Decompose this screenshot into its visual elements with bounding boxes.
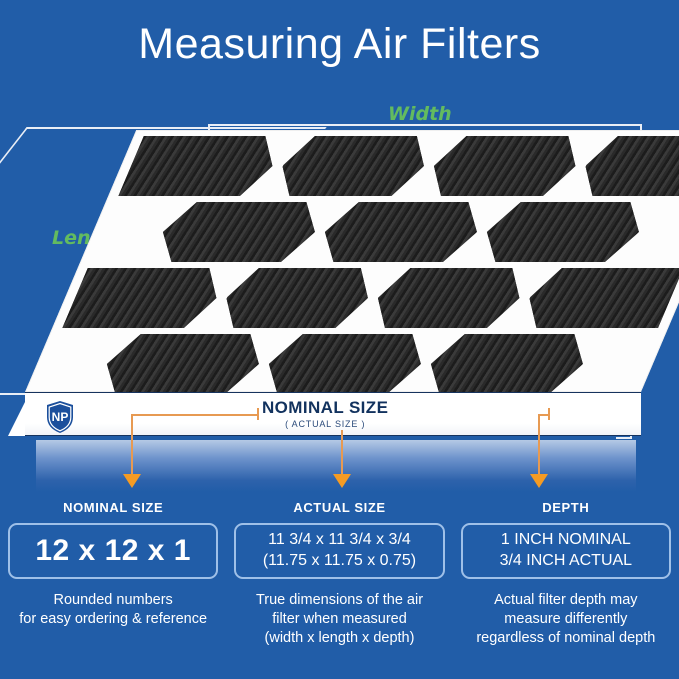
depth-actual-value: 3/4 INCH ACTUAL — [500, 551, 632, 572]
pleat-cell — [94, 334, 271, 392]
leader-tick-depth — [548, 408, 550, 420]
caption-line: regardless of nominal depth — [461, 629, 671, 648]
infographic-canvas: Measuring Air Filters Width Length Depth — [0, 0, 679, 679]
pleat-cell — [118, 136, 285, 196]
pleat-cell — [365, 268, 532, 328]
leader-arrow-actual — [333, 474, 351, 488]
pleat-cell — [573, 136, 679, 196]
air-filter-illustration — [0, 130, 679, 440]
column-caption: True dimensions of the air filter when m… — [234, 591, 444, 648]
np-shield-logo: NP — [45, 400, 75, 434]
band-actual-subtitle: ( ACTUAL SIZE ) — [262, 419, 388, 429]
leader-tick-nominal-right — [257, 408, 259, 420]
nominal-size-value: 12 x 12 x 1 — [35, 534, 191, 568]
summary-columns: NOMINAL SIZE 12 x 12 x 1 Rounded numbers… — [0, 500, 679, 679]
page-title: Measuring Air Filters — [0, 22, 679, 67]
band-nominal-size-caption: NOMINAL SIZE ( ACTUAL SIZE ) — [262, 399, 388, 429]
caption-line: for easy ordering & reference — [8, 610, 218, 629]
pleat-cell — [62, 268, 229, 328]
leader-arrow-depth — [530, 474, 548, 488]
pleat-cell — [270, 136, 437, 196]
caption-line: (width x length x depth) — [234, 629, 444, 648]
leader-line-nominal-horizontal — [131, 414, 259, 416]
leader-line-depth-vertical — [538, 414, 540, 476]
pleat-cell — [421, 136, 588, 196]
depth-nominal-value: 1 INCH NOMINAL — [501, 530, 631, 551]
column-actual-size: ACTUAL SIZE 11 3/4 x 11 3/4 x 3/4 (11.75… — [226, 500, 452, 679]
column-heading: ACTUAL SIZE — [234, 500, 444, 515]
actual-size-value-decimal: (11.75 x 11.75 x 0.75) — [263, 551, 416, 572]
caption-line: True dimensions of the air — [234, 591, 444, 610]
column-depth: DEPTH 1 INCH NOMINAL 3/4 INCH ACTUAL Act… — [453, 500, 679, 679]
band-nominal-title: NOMINAL SIZE — [262, 399, 388, 417]
caption-line: measure differently — [461, 610, 671, 629]
column-caption: Rounded numbers for easy ordering & refe… — [8, 591, 218, 629]
column-heading: NOMINAL SIZE — [8, 500, 218, 515]
caption-line: Rounded numbers — [8, 591, 218, 610]
pleat-cell — [150, 202, 327, 262]
depth-value-box: 1 INCH NOMINAL 3/4 INCH ACTUAL — [461, 523, 671, 579]
caption-line: filter when measured — [234, 610, 444, 629]
column-heading: DEPTH — [461, 500, 671, 515]
leader-line-nominal-vertical — [131, 414, 133, 476]
pleat-cell — [474, 202, 651, 262]
actual-size-value-box: 11 3/4 x 11 3/4 x 3/4 (11.75 x 11.75 x 0… — [234, 523, 444, 579]
column-caption: Actual filter depth may measure differen… — [461, 591, 671, 648]
caption-line: Actual filter depth may — [461, 591, 671, 610]
actual-size-value-fraction: 11 3/4 x 11 3/4 x 3/4 — [268, 530, 411, 551]
pleat-cell — [418, 334, 595, 392]
pleat-cell — [312, 202, 489, 262]
pleat-cell — [214, 268, 381, 328]
column-nominal-size: NOMINAL SIZE 12 x 12 x 1 Rounded numbers… — [0, 500, 226, 679]
filter-pleat-grid — [25, 130, 679, 392]
np-logo-text: NP — [52, 410, 69, 424]
leader-line-actual-vertical — [341, 430, 343, 476]
nominal-size-value-box: 12 x 12 x 1 — [8, 523, 218, 579]
pleat-cell — [517, 268, 679, 328]
leader-arrow-nominal — [123, 474, 141, 488]
pleat-cell — [256, 334, 433, 392]
width-label: Width — [388, 103, 452, 125]
